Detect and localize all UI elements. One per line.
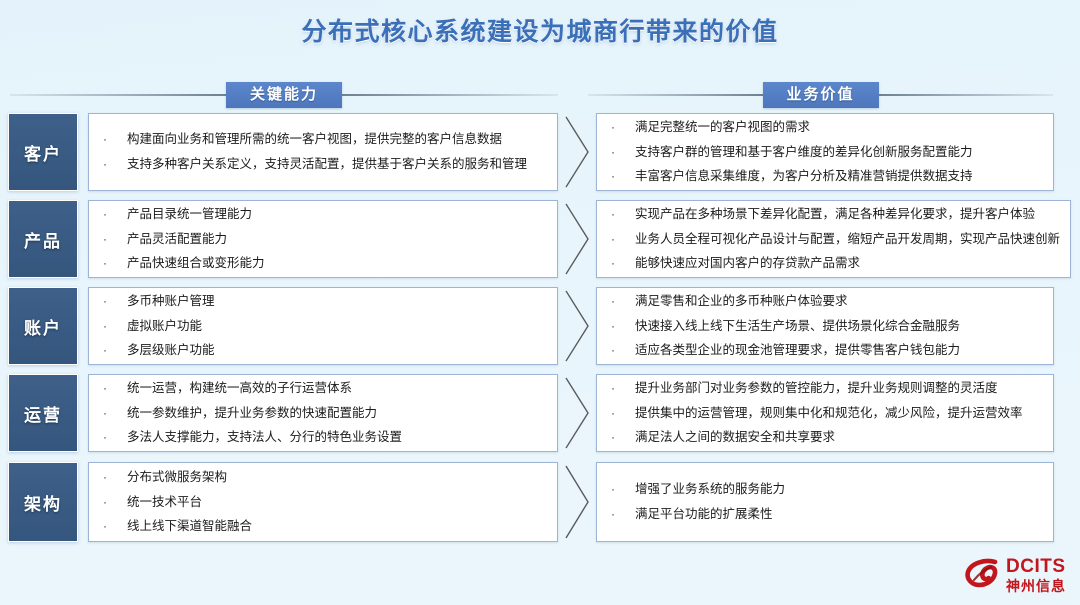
bullet-text: 统一参数维护，提升业务参数的快速配置能力 [127, 405, 547, 422]
bullet-text: 提供集中的运营管理，规则集中化和规范化，减少风险，提升运营效率 [635, 405, 1043, 422]
logo-text-en: DCITS [1006, 557, 1066, 576]
bullet-dot-icon: · [103, 405, 127, 421]
bullet-text: 适应各类型企业的现金池管理要求，提供零售客户钱包能力 [635, 342, 1043, 359]
chevron-right-icon [558, 374, 596, 452]
bullet-text: 快速接入线上线下生活生产场景、提供场景化综合金融服务 [635, 318, 1043, 335]
bullet-list: ·产品目录统一管理能力·产品灵活配置能力·产品快速组合或变形能力 [103, 202, 547, 277]
bullet-dot-icon: · [611, 481, 635, 497]
value-card: ·实现产品在多种场景下差异化配置，满足各种差异化要求，提升客户体验·业务人员全程… [596, 200, 1071, 278]
bullet-item: ·构建面向业务和管理所需的统一客户视图，提供完整的客户信息数据 [103, 127, 547, 152]
bullet-dot-icon: · [611, 231, 635, 247]
bullet-list: ·多币种账户管理·虚拟账户功能·多层级账户功能 [103, 289, 547, 364]
page-title: 分布式核心系统建设为城商行带来的价值 [0, 12, 1080, 48]
value-row: 账户·多币种账户管理·虚拟账户功能·多层级账户功能·满足零售和企业的多币种账户体… [8, 287, 1054, 365]
bullet-text: 满足零售和企业的多币种账户体验要求 [635, 293, 1043, 310]
chevron-right-icon [558, 113, 596, 191]
capability-card: ·多币种账户管理·虚拟账户功能·多层级账户功能 [88, 287, 558, 365]
bullet-dot-icon: · [103, 231, 127, 247]
value-row: 产品·产品目录统一管理能力·产品灵活配置能力·产品快速组合或变形能力·实现产品在… [8, 200, 1054, 278]
bullet-text: 统一运营，构建统一高效的子行运营体系 [127, 380, 547, 397]
row-label-5: 架构 [8, 462, 78, 542]
bullet-text: 多法人支撑能力，支持法人、分行的特色业务设置 [127, 429, 547, 446]
column-header-values: 业务价值 [588, 82, 1053, 108]
bullet-item: ·满足平台功能的扩展柔性 [611, 502, 1043, 527]
chevron-right-icon [558, 462, 596, 542]
bullet-item: ·增强了业务系统的服务能力 [611, 477, 1043, 502]
bullet-text: 业务人员全程可视化产品设计与配置，缩短产品开发周期，实现产品快速创新 [635, 231, 1060, 248]
row-label-4: 运营 [8, 374, 78, 452]
bullet-text: 统一技术平台 [127, 494, 547, 511]
bullet-dot-icon: · [103, 131, 127, 147]
bullet-text: 满足平台功能的扩展柔性 [635, 506, 1043, 523]
bullet-text: 满足完整统一的客户视图的需求 [635, 119, 1043, 136]
bullet-item: ·统一技术平台 [103, 490, 547, 515]
column-header-capabilities: 关键能力 [10, 82, 558, 108]
bullet-item: ·支持多种客户关系定义，支持灵活配置，提供基于客户关系的服务和管理 [103, 152, 547, 177]
bullet-item: ·提供集中的运营管理，规则集中化和规范化，减少风险，提升运营效率 [611, 401, 1043, 426]
value-row: 运营·统一运营，构建统一高效的子行运营体系·统一参数维护，提升业务参数的快速配置… [8, 374, 1054, 452]
bullet-item: ·统一运营，构建统一高效的子行运营体系 [103, 376, 547, 401]
row-label-text: 账户 [24, 314, 62, 339]
row-label-text: 架构 [24, 490, 62, 515]
row-label-text: 客户 [24, 140, 62, 165]
bullet-dot-icon: · [103, 380, 127, 396]
bullet-text: 产品目录统一管理能力 [127, 206, 547, 223]
bullet-dot-icon: · [611, 342, 635, 358]
bullet-dot-icon: · [611, 429, 635, 445]
bullet-item: ·多层级账户功能 [103, 338, 547, 363]
chevron-right-icon [558, 200, 596, 278]
value-card: ·增强了业务系统的服务能力·满足平台功能的扩展柔性 [596, 462, 1054, 542]
value-row: 客户·构建面向业务和管理所需的统一客户视图，提供完整的客户信息数据·支持多种客户… [8, 113, 1054, 191]
logo-text-cn: 神州信息 [1006, 579, 1066, 593]
value-card: ·满足零售和企业的多币种账户体验要求·快速接入线上线下生活生产场景、提供场景化综… [596, 287, 1054, 365]
row-label-2: 产品 [8, 200, 78, 278]
bullet-item: ·快速接入线上线下生活生产场景、提供场景化综合金融服务 [611, 314, 1043, 339]
bullet-dot-icon: · [611, 144, 635, 160]
bullet-item: ·分布式微服务架构 [103, 465, 547, 490]
bullet-text: 分布式微服务架构 [127, 469, 547, 486]
bullet-text: 增强了业务系统的服务能力 [635, 481, 1043, 498]
value-row: 架构·分布式微服务架构·统一技术平台·线上线下渠道智能融合·增强了业务系统的服务… [8, 462, 1054, 542]
header-rule-left-after [342, 94, 558, 96]
bullet-item: ·支持客户群的管理和基于客户维度的差异化创新服务配置能力 [611, 140, 1043, 165]
header-rule-left [10, 94, 226, 96]
bullet-dot-icon: · [103, 255, 127, 271]
row-label-1: 客户 [8, 113, 78, 191]
row-label-3: 账户 [8, 287, 78, 365]
bullet-text: 产品快速组合或变形能力 [127, 255, 547, 272]
bullet-item: ·适应各类型企业的现金池管理要求，提供零售客户钱包能力 [611, 338, 1043, 363]
bullet-dot-icon: · [103, 342, 127, 358]
bullet-text: 线上线下渠道智能融合 [127, 518, 547, 535]
bullet-item: ·线上线下渠道智能融合 [103, 514, 547, 539]
bullet-item: ·业务人员全程可视化产品设计与配置，缩短产品开发周期，实现产品快速创新 [611, 227, 1060, 252]
header-rule-right-after [879, 94, 1054, 96]
bullet-text: 虚拟账户功能 [127, 318, 547, 335]
bullet-dot-icon: · [611, 380, 635, 396]
bullet-dot-icon: · [611, 206, 635, 222]
bullet-item: ·产品目录统一管理能力 [103, 202, 547, 227]
bullet-list: ·统一运营，构建统一高效的子行运营体系·统一参数维护，提升业务参数的快速配置能力… [103, 376, 547, 451]
capability-card: ·分布式微服务架构·统一技术平台·线上线下渠道智能融合 [88, 462, 558, 542]
bullet-dot-icon: · [103, 156, 127, 172]
bullet-dot-icon: · [611, 293, 635, 309]
bullet-text: 实现产品在多种场景下差异化配置，满足各种差异化要求，提升客户体验 [635, 206, 1060, 223]
bullet-list: ·分布式微服务架构·统一技术平台·线上线下渠道智能融合 [103, 465, 547, 540]
bullet-item: ·能够快速应对国内客户的存贷款产品需求 [611, 251, 1060, 276]
bullet-text: 支持多种客户关系定义，支持灵活配置，提供基于客户关系的服务和管理 [127, 156, 547, 173]
bullet-item: ·统一参数维护，提升业务参数的快速配置能力 [103, 401, 547, 426]
capability-card: ·构建面向业务和管理所需的统一客户视图，提供完整的客户信息数据·支持多种客户关系… [88, 113, 558, 191]
bullet-item: ·产品快速组合或变形能力 [103, 251, 547, 276]
bullet-text: 满足法人之间的数据安全和共享要求 [635, 429, 1043, 446]
bullet-item: ·多币种账户管理 [103, 289, 547, 314]
column-header-values-label: 业务价值 [763, 82, 879, 108]
bullet-text: 提升业务部门对业务参数的管控能力，提升业务规则调整的灵活度 [635, 380, 1043, 397]
bullet-text: 多币种账户管理 [127, 293, 547, 310]
bullet-list: ·满足零售和企业的多币种账户体验要求·快速接入线上线下生活生产场景、提供场景化综… [611, 289, 1043, 364]
bullet-item: ·虚拟账户功能 [103, 314, 547, 339]
bullet-list: ·实现产品在多种场景下差异化配置，满足各种差异化要求，提升客户体验·业务人员全程… [611, 202, 1060, 277]
bullet-item: ·满足法人之间的数据安全和共享要求 [611, 425, 1043, 450]
bullet-item: ·实现产品在多种场景下差异化配置，满足各种差异化要求，提升客户体验 [611, 202, 1060, 227]
bullet-text: 能够快速应对国内客户的存贷款产品需求 [635, 255, 1060, 272]
bullet-dot-icon: · [103, 429, 127, 445]
bullet-item: ·丰富客户信息采集维度，为客户分析及精准营销提供数据支持 [611, 164, 1043, 189]
bullet-item: ·满足完整统一的客户视图的需求 [611, 115, 1043, 140]
bullet-dot-icon: · [103, 469, 127, 485]
capability-card: ·统一运营，构建统一高效的子行运营体系·统一参数维护，提升业务参数的快速配置能力… [88, 374, 558, 452]
bullet-dot-icon: · [611, 318, 635, 334]
bullet-dot-icon: · [611, 168, 635, 184]
bullet-list: ·提升业务部门对业务参数的管控能力，提升业务规则调整的灵活度·提供集中的运营管理… [611, 376, 1043, 451]
row-label-text: 运营 [24, 401, 62, 426]
chevron-right-icon [558, 287, 596, 365]
bullet-list: ·满足完整统一的客户视图的需求·支持客户群的管理和基于客户维度的差异化创新服务配… [611, 115, 1043, 190]
bullet-item: ·产品灵活配置能力 [103, 227, 547, 252]
bullet-dot-icon: · [103, 518, 127, 534]
bullet-text: 支持客户群的管理和基于客户维度的差异化创新服务配置能力 [635, 144, 1043, 161]
bullet-dot-icon: · [611, 506, 635, 522]
header-rule-right [588, 94, 763, 96]
value-card: ·满足完整统一的客户视图的需求·支持客户群的管理和基于客户维度的差异化创新服务配… [596, 113, 1054, 191]
bullet-text: 产品灵活配置能力 [127, 231, 547, 248]
capability-card: ·产品目录统一管理能力·产品灵活配置能力·产品快速组合或变形能力 [88, 200, 558, 278]
bullet-dot-icon: · [103, 293, 127, 309]
bullet-text: 构建面向业务和管理所需的统一客户视图，提供完整的客户信息数据 [127, 131, 547, 148]
slide-root: 分布式核心系统建设为城商行带来的价值 关键能力 业务价值 客户·构建面向业务和管… [0, 0, 1080, 605]
bullet-item: ·多法人支撑能力，支持法人、分行的特色业务设置 [103, 425, 547, 450]
bullet-item: ·提升业务部门对业务参数的管控能力，提升业务规则调整的灵活度 [611, 376, 1043, 401]
bullet-list: ·构建面向业务和管理所需的统一客户视图，提供完整的客户信息数据·支持多种客户关系… [103, 127, 547, 177]
brand-logo: DCITS 神州信息 [965, 557, 1066, 593]
column-header-capabilities-label: 关键能力 [226, 82, 342, 108]
value-card: ·提升业务部门对业务参数的管控能力，提升业务规则调整的灵活度·提供集中的运营管理… [596, 374, 1054, 452]
bullet-item: ·满足零售和企业的多币种账户体验要求 [611, 289, 1043, 314]
bullet-dot-icon: · [611, 255, 635, 271]
bullet-text: 丰富客户信息采集维度，为客户分析及精准营销提供数据支持 [635, 168, 1043, 185]
bullet-dot-icon: · [611, 405, 635, 421]
dcits-swirl-icon [965, 558, 999, 593]
bullet-dot-icon: · [103, 494, 127, 510]
bullet-list: ·增强了业务系统的服务能力·满足平台功能的扩展柔性 [611, 477, 1043, 527]
row-label-text: 产品 [24, 227, 62, 252]
bullet-text: 多层级账户功能 [127, 342, 547, 359]
bullet-dot-icon: · [103, 206, 127, 222]
bullet-dot-icon: · [611, 119, 635, 135]
bullet-dot-icon: · [103, 318, 127, 334]
